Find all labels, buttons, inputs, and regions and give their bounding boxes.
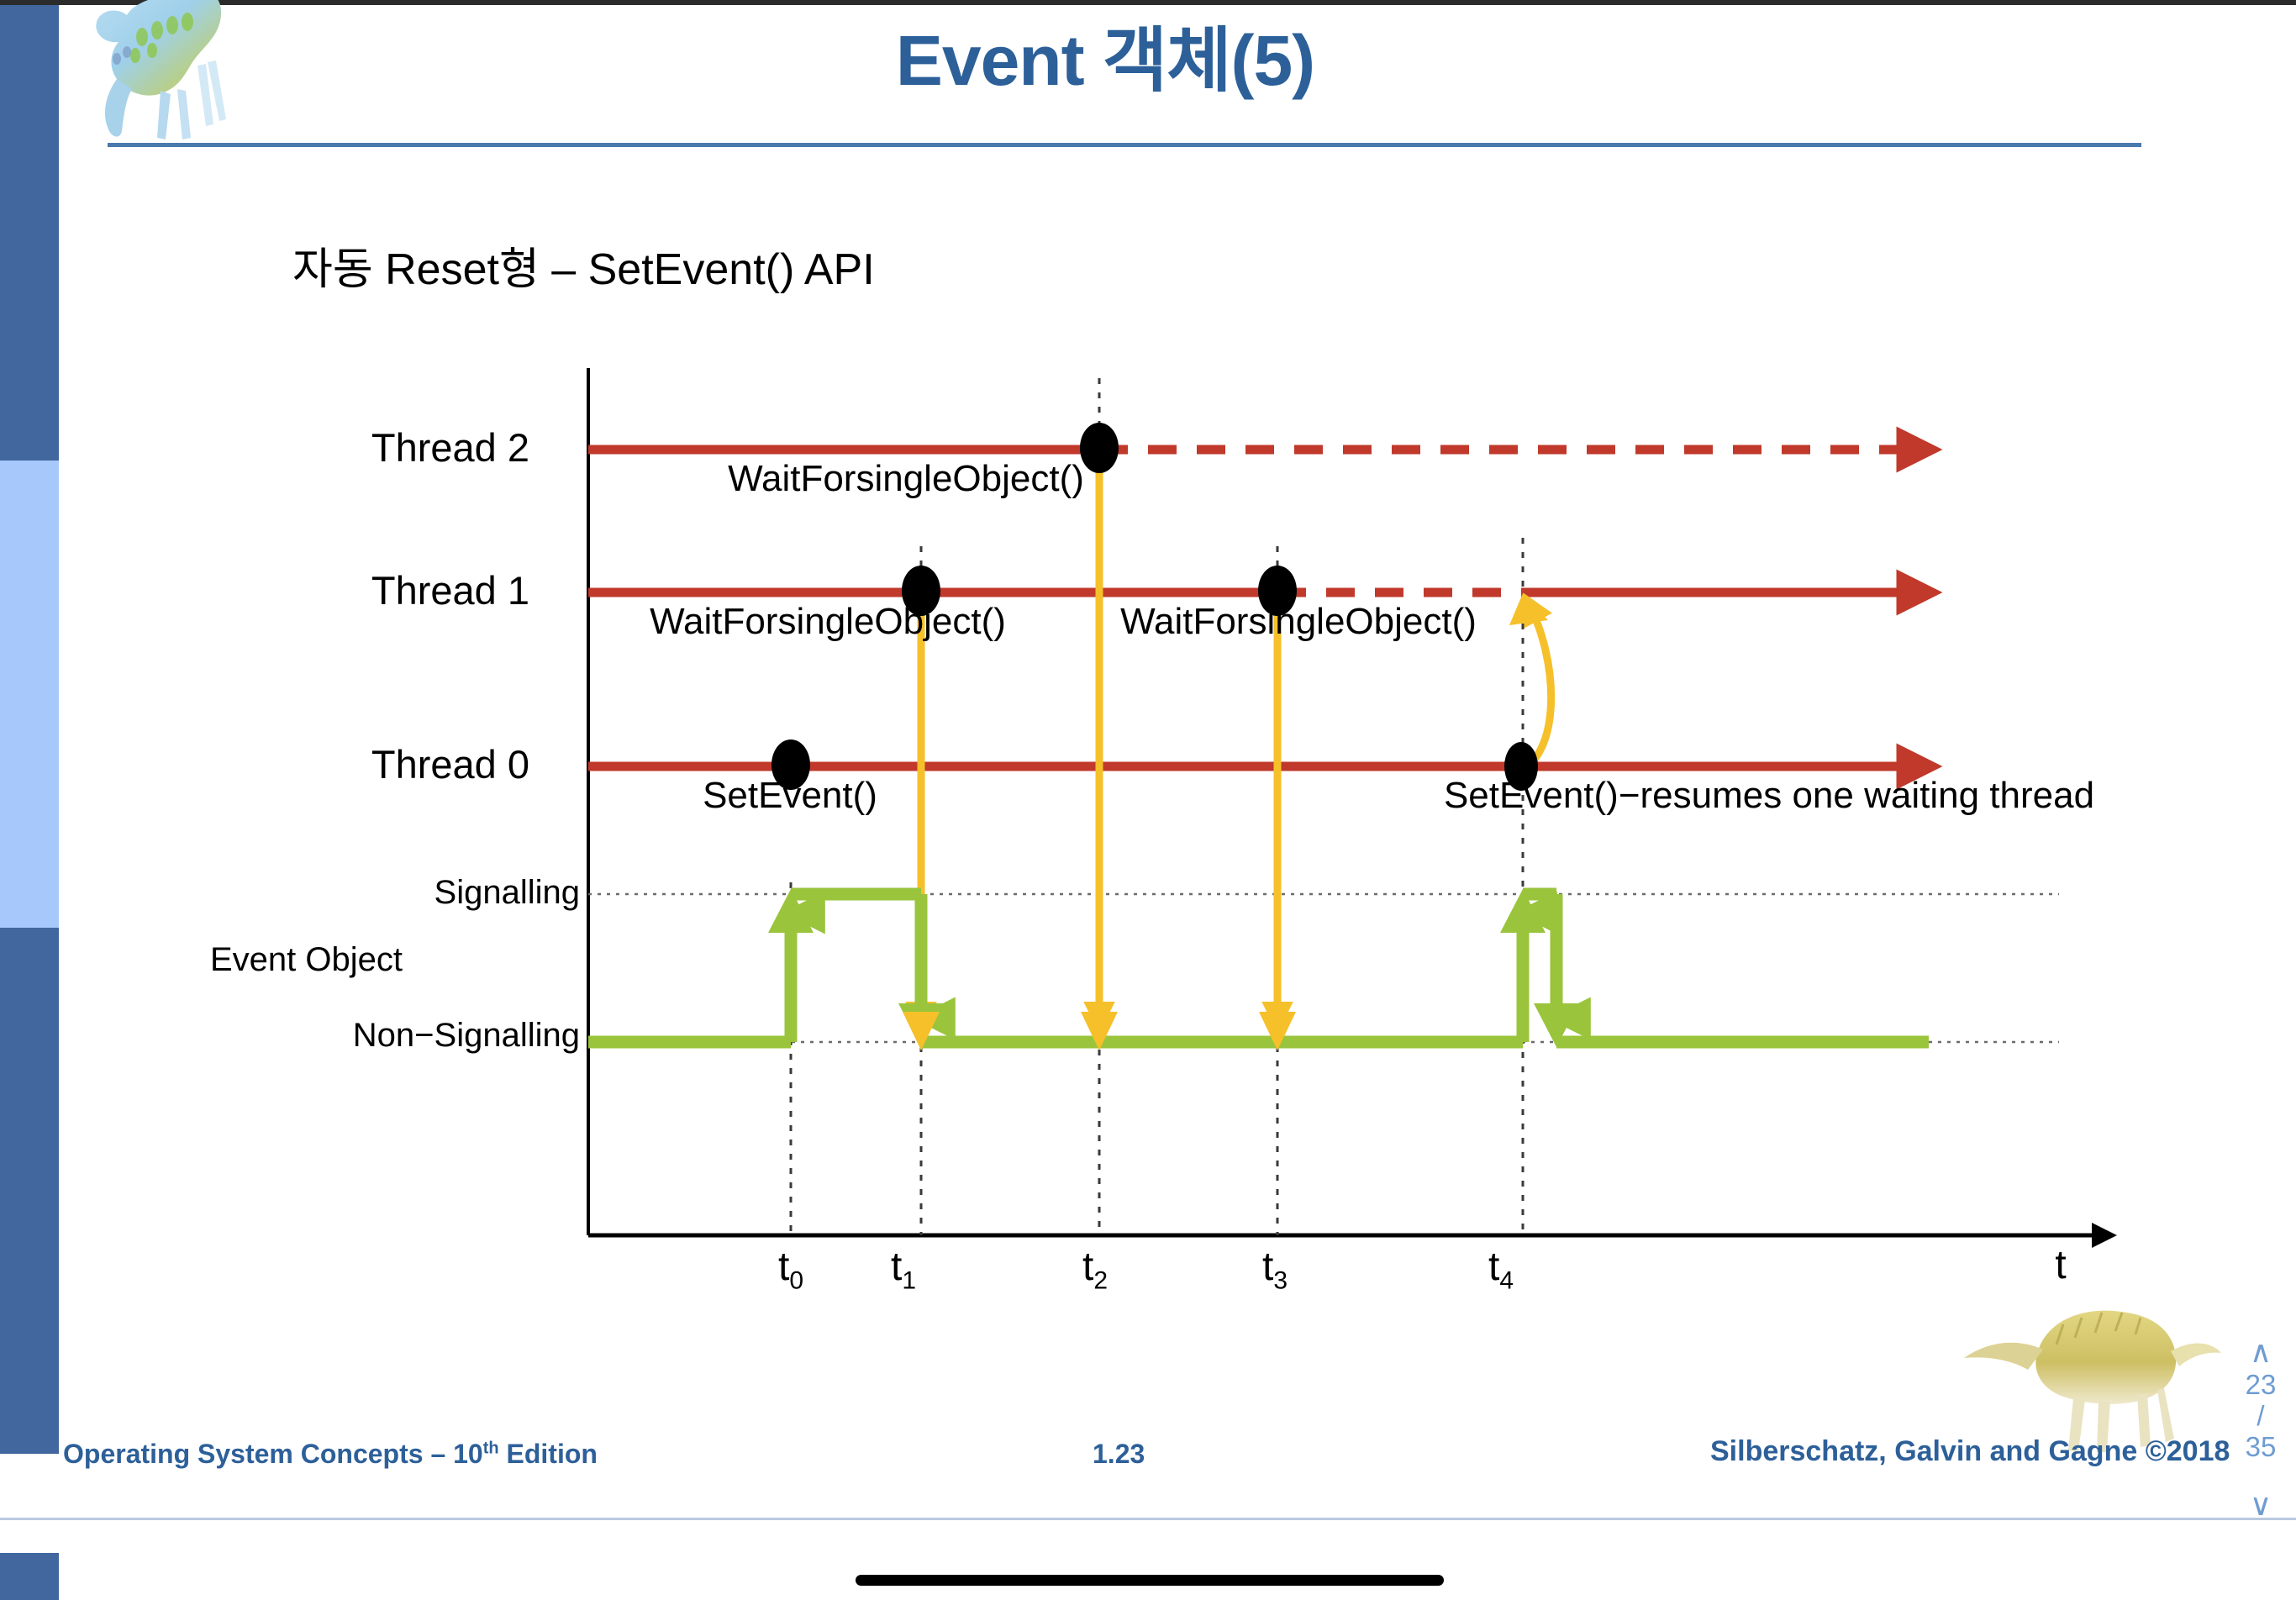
page-separator: / [2231,1402,2290,1430]
annotation-thread2-wait: WaitForsingleObject() [728,458,1084,500]
row-label-non-signalling: Non−Signalling [227,1017,580,1055]
event-waveform-arrowheads [768,889,1579,1047]
annotation-thread1-wait-t1: WaitForsingleObject() [650,601,1006,643]
page-down-chevron-icon[interactable]: ∨ [2231,1489,2290,1521]
footer-edition-prefix: Operating System Concepts – 10 [63,1439,483,1469]
x-axis-label: t [2055,1242,2066,1288]
footer-slide-number: 1.23 [1093,1439,1145,1470]
call-arrowheads [903,593,1548,1050]
x-tick-t1: t1 [891,1244,916,1296]
x-tick-t4: t4 [1488,1244,1514,1296]
x-tick-t3: t3 [1262,1244,1288,1296]
footer-edition-sup: th [483,1439,499,1457]
footer-edition: Operating System Concepts – 10th Edition [63,1439,598,1470]
tick-guides [791,378,1523,1235]
footer-copyright: Silberschatz, Galvin and Gagne ©2018 [1710,1435,2230,1468]
page-total-number: 35 [2231,1430,2290,1464]
event-dot-thread2-t2 [1080,423,1119,473]
page-current-number: 23 [2231,1368,2290,1402]
annotation-thread0-setevent: SetEvent() [703,775,877,817]
annotation-thread0-setevent-resume: SetEvent()−resumes one waiting thread [1444,775,2094,817]
footer-edition-suffix: Edition [499,1439,598,1469]
page-navigator[interactable]: ∧ 23 / 35 ∨ [2231,1336,2290,1521]
row-label-signalling: Signalling [277,874,580,912]
annotation-thread1-wait-t3: WaitForsingleObject() [1120,601,1477,643]
call-arrows [921,450,1551,1027]
x-tick-t2: t2 [1082,1244,1108,1296]
page-up-chevron-icon[interactable]: ∧ [2231,1336,2290,1368]
row-label-thread2: Thread 2 [303,424,529,471]
row-label-thread1: Thread 1 [303,567,529,613]
state-guides [588,894,2059,1042]
row-label-event-object: Event Object [210,941,479,979]
row-label-thread0: Thread 0 [303,741,529,787]
x-tick-t0: t0 [778,1244,803,1296]
